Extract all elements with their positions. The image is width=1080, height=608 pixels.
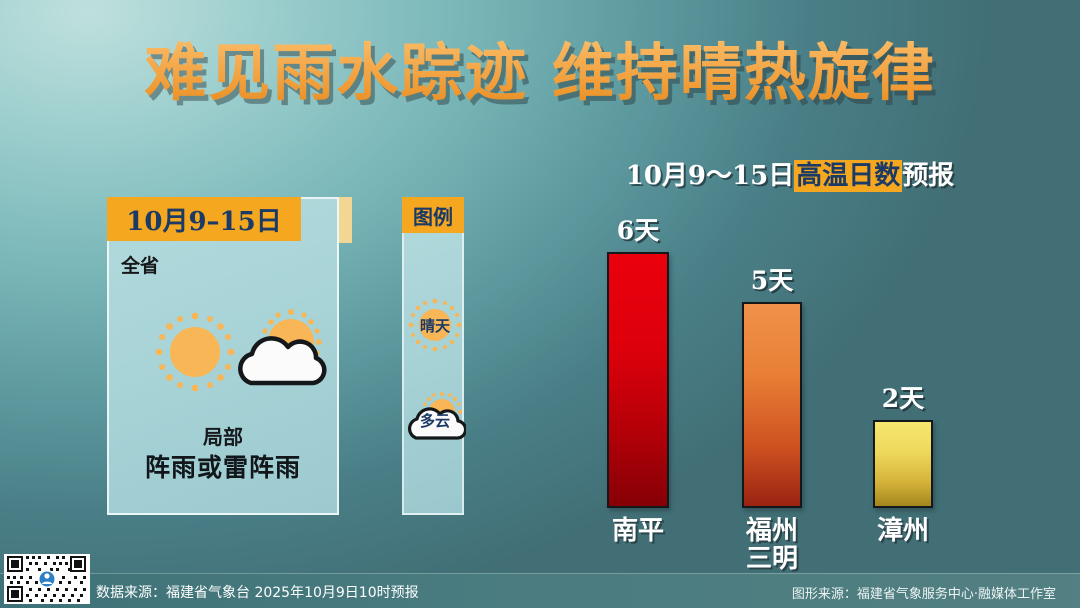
bar-1 <box>742 302 802 508</box>
chart-title-suffix: 预报 <box>902 161 954 191</box>
bar-value-2: 2天 <box>882 379 924 415</box>
forecast-caption-rain: 阵雨或雷阵雨 <box>109 448 337 484</box>
bar-label-2-line1: 漳州 <box>877 517 929 545</box>
chart-title-highlight: 高温日数 <box>794 160 902 192</box>
legend-title: 图例 <box>402 197 464 233</box>
weather-icon-row <box>109 307 337 397</box>
bar-label-1-line1: 福州 <box>746 517 798 545</box>
bar-label-1: 福州 三明 <box>746 517 798 573</box>
high-temperature-days-bar-chart: 6天 南平 5天 福州 三明 2天 漳州 <box>560 205 1020 570</box>
sun-behind-cloud-icon <box>229 309 339 399</box>
bar-label-0: 南平 <box>612 517 664 545</box>
bar-group-2: 2天 漳州 <box>873 420 933 508</box>
bar-2 <box>873 420 933 508</box>
bar-label-0-line1: 南平 <box>612 517 664 545</box>
date-range-badge: 10月9–15日 <box>107 197 301 241</box>
bar-group-0: 6天 南平 <box>607 252 669 508</box>
footer-data-source: 数据来源：福建省气象台 2025年10月9日10时预报 <box>96 582 419 602</box>
page-title: 难见雨水踪迹 维持晴热旋律 <box>0 22 1080 112</box>
footer-graphic-source: 图形来源：福建省气象服务中心·融媒体工作室 <box>792 583 1056 602</box>
province-forecast-panel: 10月9–15日 全省 <box>107 197 339 515</box>
chart-title-prefix: 10月9～15日 <box>626 161 794 191</box>
qr-code-icon <box>4 554 90 604</box>
bar-group-1: 5天 福州 三明 <box>742 302 802 508</box>
legend-item-sunny: 晴天 <box>404 294 466 356</box>
legend-label-sunny: 晴天 <box>404 294 466 356</box>
forecast-caption-local: 局部 <box>109 421 337 450</box>
qr-code[interactable] <box>4 554 90 604</box>
legend-item-cloudy: 多云 <box>404 389 466 451</box>
footer-bar: 数据来源：福建省气象台 2025年10月9日10时预报 图形来源：福建省气象服务… <box>0 573 1080 608</box>
bar-label-1-line2: 三明 <box>746 545 798 573</box>
bar-0 <box>607 252 669 508</box>
infographic-canvas: 难见雨水踪迹 维持晴热旋律 10月9–15日 全省 <box>0 0 1080 608</box>
chart-title: 10月9～15日高温日数预报 <box>560 155 1020 192</box>
scope-label: 全省 <box>121 251 159 278</box>
bar-label-2: 漳州 <box>877 517 929 545</box>
legend-panel: 图例 晴天 <box>402 197 464 515</box>
bar-value-0: 6天 <box>617 211 659 247</box>
legend-label-cloudy: 多云 <box>404 389 466 451</box>
bar-value-1: 5天 <box>751 261 793 297</box>
